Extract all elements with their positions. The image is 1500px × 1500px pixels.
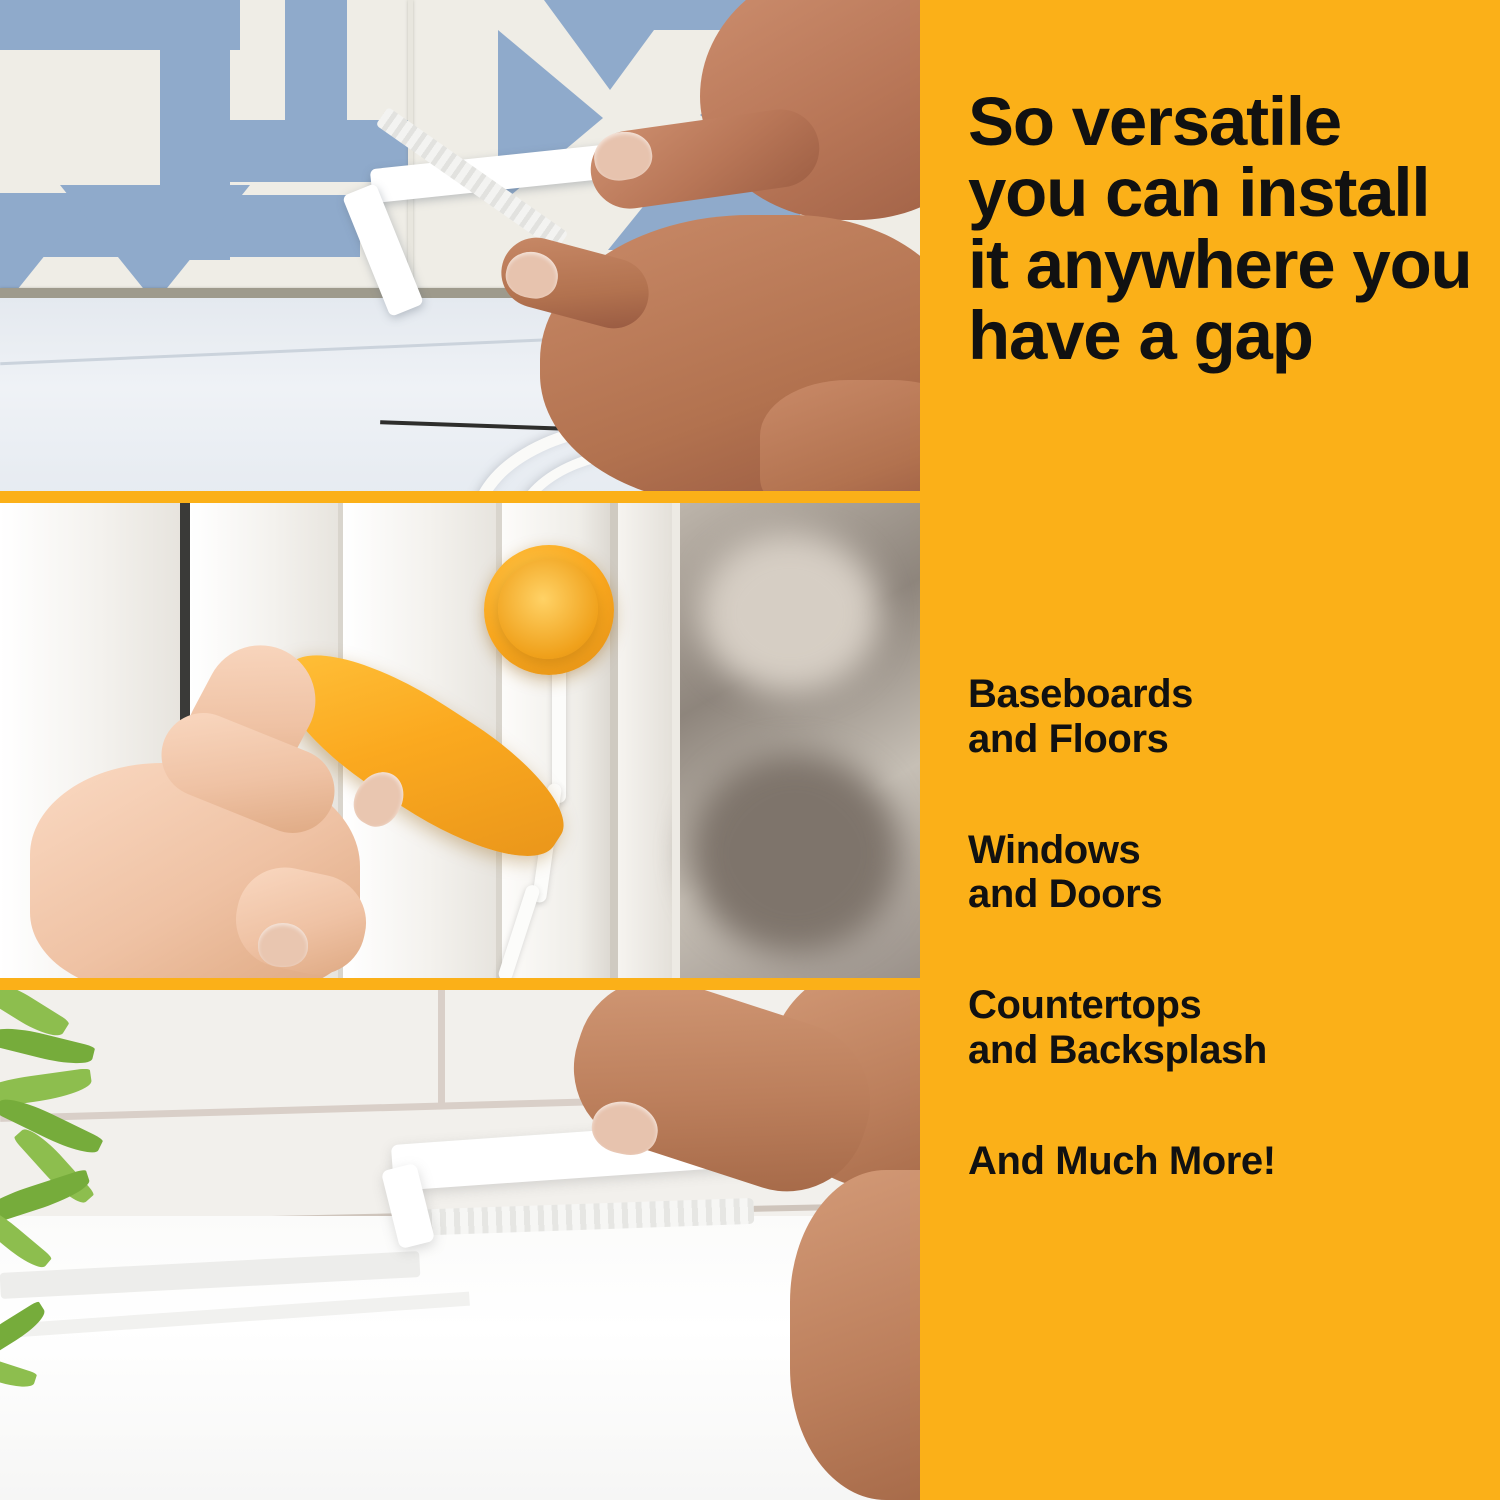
photo-column: [0, 0, 920, 1500]
hand: [760, 380, 920, 491]
fingernail: [258, 923, 308, 967]
use-case-item: Baseboards and Floors: [968, 672, 1478, 762]
brick-mortar-line: [438, 990, 445, 1108]
tile-shape: [285, 0, 347, 170]
photo-divider: [0, 491, 920, 503]
use-case-item: Windows and Doors: [968, 828, 1478, 918]
glass-reflection: [700, 533, 880, 693]
panel-edge: [672, 503, 680, 978]
caulk-strip: [552, 653, 566, 803]
photo-middle-window-frame: [0, 503, 920, 978]
headline: So versatile you can install it anywhere…: [968, 86, 1478, 372]
scene-countertop-backsplash: [0, 990, 920, 1500]
product-infographic: So versatile you can install it anywhere…: [0, 0, 1500, 1500]
use-cases-list: Baseboards and Floors Windows and Doors …: [968, 672, 1478, 1184]
glass-reflection: [690, 753, 900, 953]
window-frame-rail: [618, 503, 678, 978]
use-case-item: And Much More!: [968, 1139, 1478, 1184]
panel-edge: [610, 503, 618, 978]
use-case-item: Countertops and Backsplash: [968, 983, 1478, 1073]
photo-divider: [0, 978, 920, 990]
scene-tile-backsplash: [0, 0, 920, 491]
tool-head-rim: [498, 559, 598, 659]
photo-top-tile-backsplash: [0, 0, 920, 491]
scene-window-frame: [0, 503, 920, 978]
white-countertop: [0, 1216, 920, 1500]
info-panel: So versatile you can install it anywhere…: [920, 0, 1500, 1500]
photo-bottom-countertop-backsplash: [0, 990, 920, 1500]
